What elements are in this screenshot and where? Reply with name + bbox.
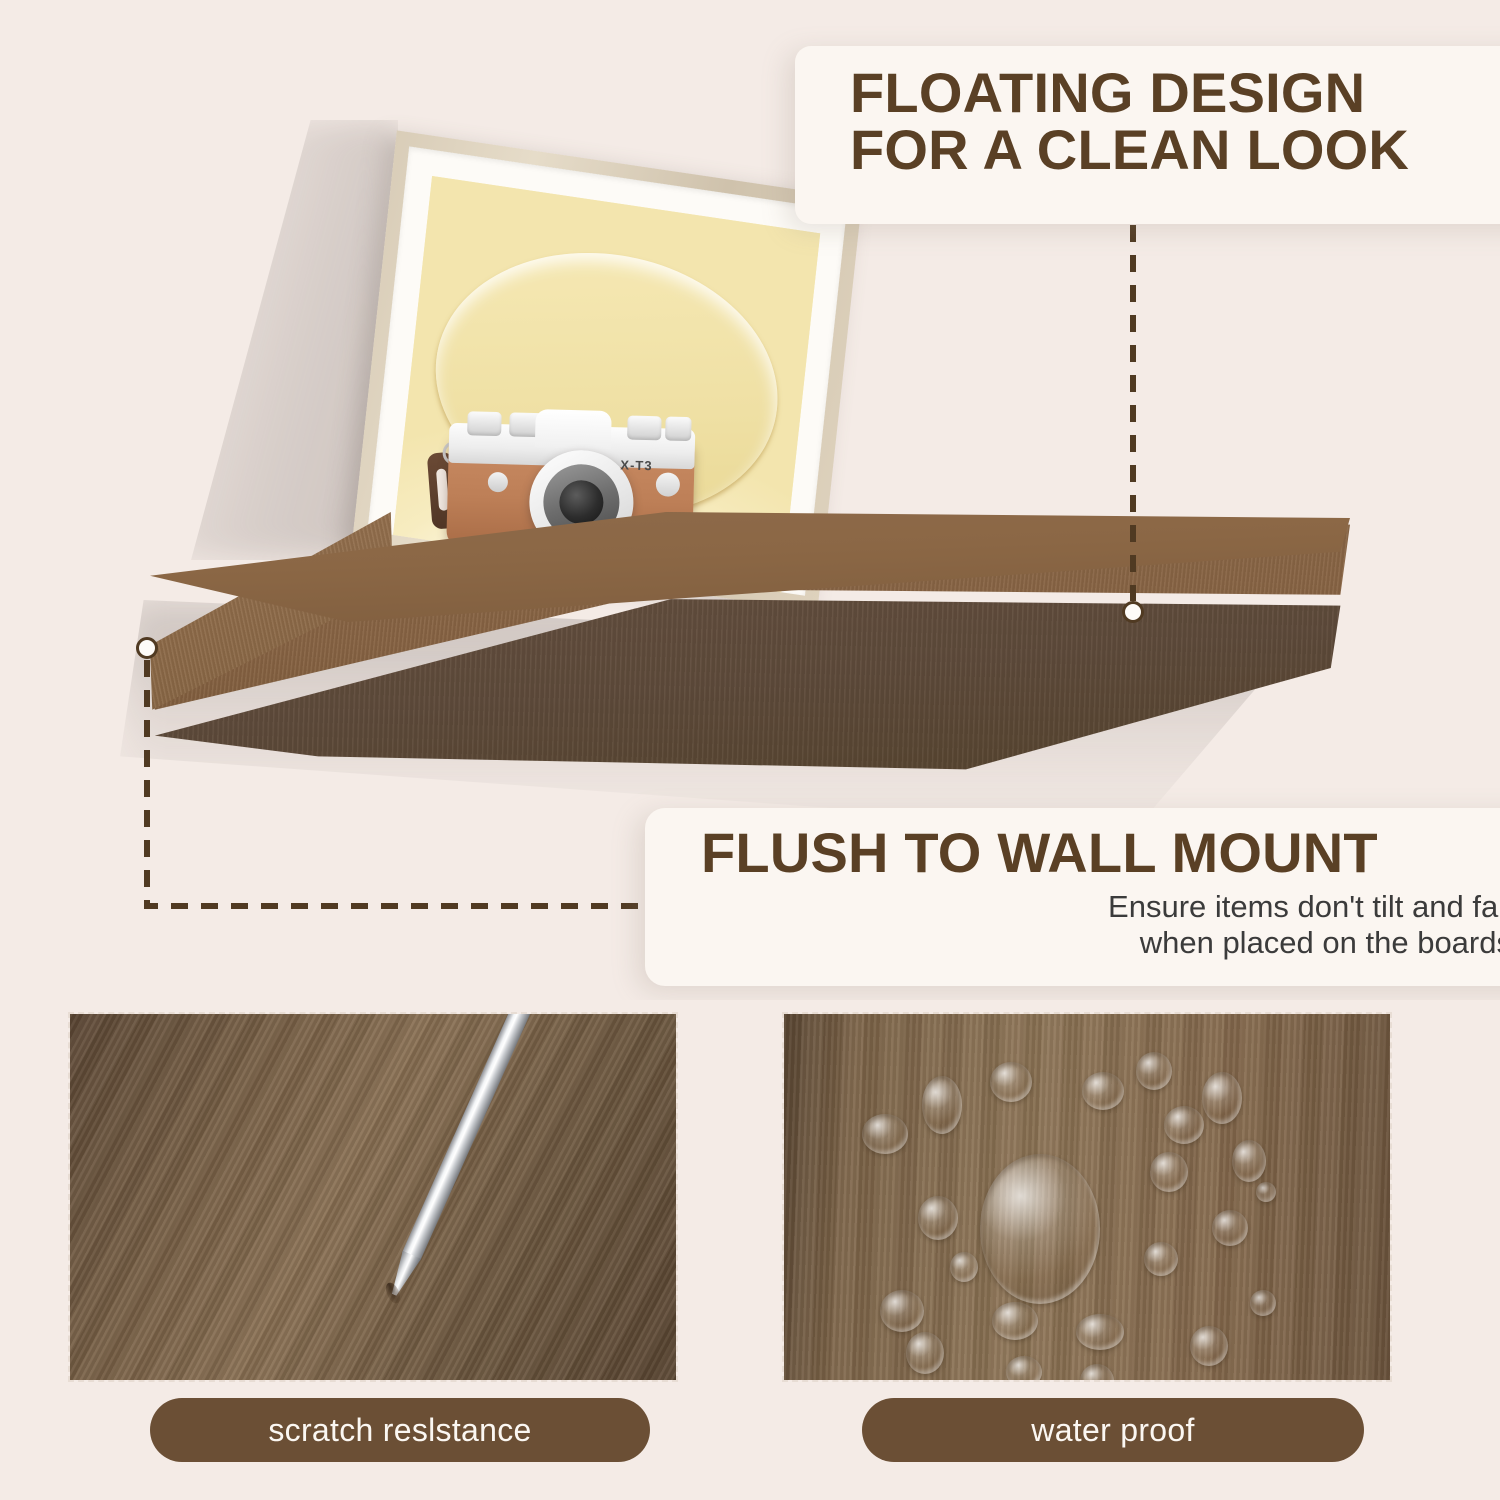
hero-scene: X-T3 FLOATING DESIGN FOR A CLEAN LOOK FL… <box>0 0 1500 1000</box>
wood-texture-dark <box>70 1014 676 1380</box>
subline-flush-mount-line1: Ensure items don't tilt and fall <box>697 889 1500 925</box>
callout-panel-flush-mount: FLUSH TO WALL MOUNT Ensure items don't t… <box>645 808 1500 986</box>
water-droplet <box>1150 1152 1188 1192</box>
water-droplet <box>992 1302 1038 1340</box>
product-feature-infographic: X-T3 FLOATING DESIGN FOR A CLEAN LOOK FL… <box>0 0 1500 1500</box>
water-droplet <box>1006 1356 1042 1382</box>
water-droplet <box>1202 1072 1242 1124</box>
water-droplet <box>1212 1210 1248 1246</box>
feature-image-waterproof <box>782 1012 1392 1382</box>
water-droplet <box>1232 1140 1266 1182</box>
label-water-proof: water proof <box>862 1398 1364 1462</box>
headline-flush-mount: FLUSH TO WALL MOUNT <box>701 824 1500 881</box>
water-droplet <box>990 1062 1032 1102</box>
water-droplet <box>906 1332 944 1374</box>
water-droplet <box>1256 1182 1276 1202</box>
water-droplet <box>1164 1106 1204 1144</box>
headline-floating-design-line2: FOR A CLEAN LOOK <box>850 121 1500 178</box>
water-droplet <box>918 1196 958 1240</box>
callout-panel-floating-design: FLOATING DESIGN FOR A CLEAN LOOK <box>795 46 1500 224</box>
water-droplet <box>880 1290 924 1332</box>
water-droplet <box>980 1154 1100 1304</box>
water-droplet <box>1082 1072 1124 1110</box>
dot-marker-left <box>136 637 158 659</box>
water-droplet <box>1136 1052 1172 1090</box>
water-droplet <box>1144 1242 1178 1276</box>
headline-floating-design-line1: FLOATING DESIGN <box>850 64 1500 121</box>
water-droplet <box>1190 1326 1228 1366</box>
water-droplet <box>862 1114 908 1154</box>
water-droplet <box>950 1252 978 1282</box>
subline-flush-mount-line2: when placed on the boards <box>697 925 1500 961</box>
water-droplet <box>1076 1314 1124 1350</box>
dot-marker-right <box>1122 601 1144 623</box>
water-droplet <box>1250 1290 1276 1316</box>
feature-image-scratch <box>68 1012 678 1382</box>
water-droplet <box>922 1076 962 1134</box>
label-scratch-resistance: scratch reslstance <box>150 1398 650 1462</box>
